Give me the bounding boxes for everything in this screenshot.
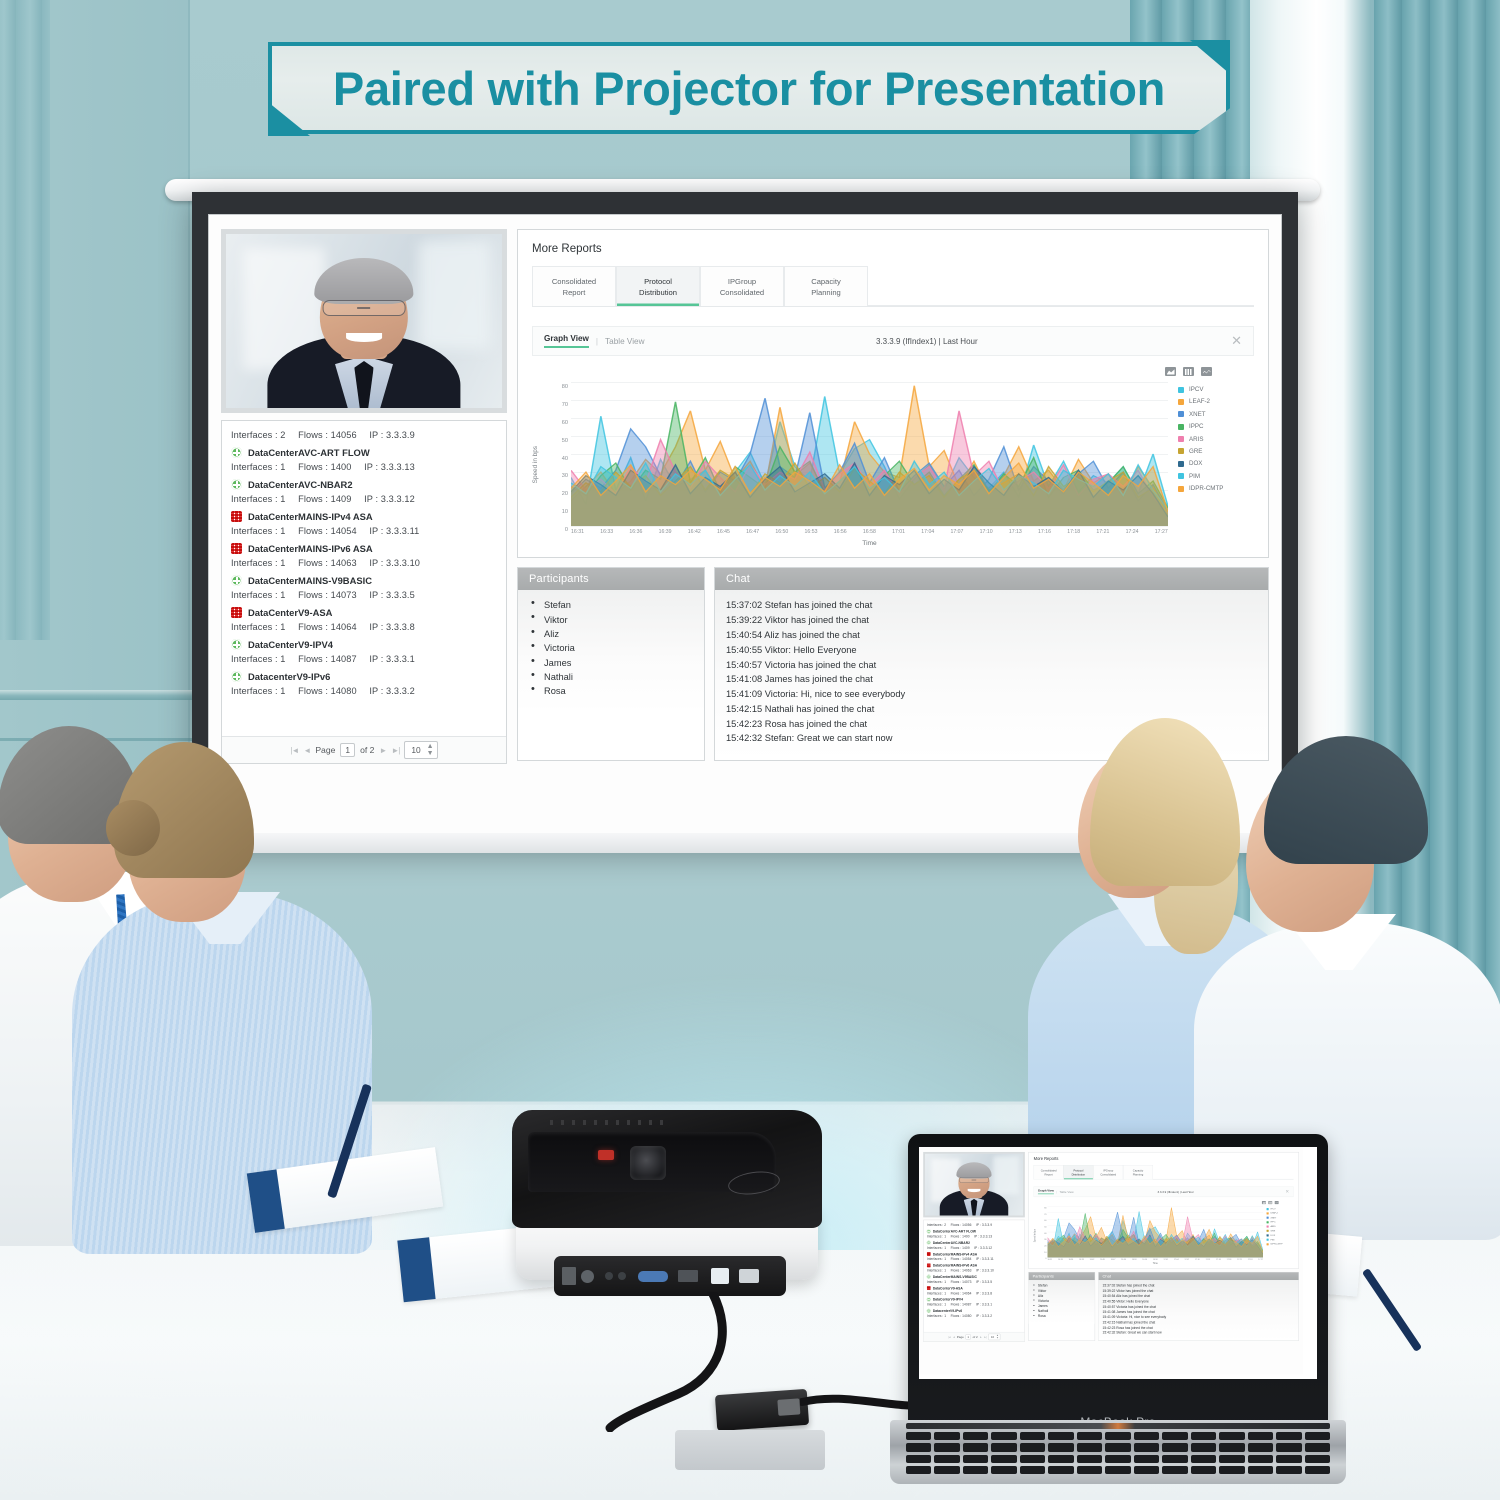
- device-list-panel: Interfaces : 2 Flows : 14056 IP : 3.3.3.…: [221, 420, 507, 764]
- key[interactable]: [1248, 1443, 1273, 1451]
- video-feed[interactable]: [923, 1152, 1025, 1217]
- page-title: More Reports: [532, 243, 1254, 255]
- legend-item[interactable]: ARIS: [1178, 436, 1254, 443]
- key[interactable]: [1305, 1432, 1330, 1440]
- x-tick: 16:31: [1048, 1258, 1053, 1260]
- device-interfaces: Interfaces : 1: [231, 558, 286, 568]
- red-firewall-icon: [927, 1286, 931, 1290]
- x-tick: 17:07: [1185, 1258, 1190, 1260]
- hdmi-port[interactable]: [678, 1270, 698, 1282]
- x-tick: 17:21: [1096, 529, 1109, 535]
- device-ip: IP : 3.3.3.5: [369, 590, 414, 600]
- legend-item[interactable]: PIM: [1267, 1238, 1294, 1240]
- list-item: 15:41:08 James has joined the chat: [726, 672, 1257, 687]
- key[interactable]: [934, 1432, 959, 1440]
- app-root: Interfaces : 2 Flows : 14056 IP : 3.3.3.…: [923, 1152, 1299, 1374]
- green-plus-icon: [927, 1298, 931, 1302]
- bar-chart-icon[interactable]: [1183, 367, 1194, 376]
- key[interactable]: [1077, 1455, 1102, 1463]
- legend-swatch-icon: [1267, 1212, 1269, 1214]
- legend-swatch-icon: [1178, 399, 1184, 405]
- glasses-icon: [959, 1177, 988, 1183]
- list-item: James: [529, 656, 693, 670]
- list-item: Nathali: [529, 670, 693, 684]
- legend-item[interactable]: ARIS: [1267, 1225, 1294, 1227]
- legend-label: GRE: [1270, 1230, 1275, 1232]
- device-ip: IP : 3.3.3.12: [974, 1246, 992, 1250]
- tab-graph-view[interactable]: Graph View: [1038, 1189, 1054, 1194]
- key[interactable]: [1219, 1443, 1244, 1451]
- chart-y-axis: 80706050403020100: [1037, 1206, 1048, 1265]
- device-header-meta: Interfaces : 2 Flows : 14056 IP : 3.3.3.…: [222, 427, 506, 443]
- left-column: Interfaces : 2 Flows : 14056 IP : 3.3.3.…: [221, 229, 507, 764]
- report-context-label: 3.3.3.9 (IfIndex1) | Last Hour: [1158, 1190, 1194, 1193]
- legend-label: PIM: [1189, 473, 1200, 480]
- right-column: More Reports Consolidated Report Protoco…: [517, 229, 1269, 761]
- report-context-label: 3.3.3.9 (IfIndex1) | Last Hour: [876, 337, 978, 346]
- tabs-filler: [868, 266, 1254, 306]
- key[interactable]: [1020, 1443, 1045, 1451]
- page-size-select[interactable]: 10 ▲▼: [988, 1334, 1000, 1340]
- x-tick: 16:36: [629, 529, 642, 535]
- tab-label-line2: Consolidated: [720, 288, 764, 297]
- legend-item[interactable]: IPPC: [1267, 1221, 1294, 1223]
- green-plus-icon: [927, 1241, 931, 1245]
- next-page-icon[interactable]: ►: [979, 1335, 981, 1338]
- device-flows: Flows : 14087: [298, 654, 357, 664]
- legend-swatch-icon: [1267, 1234, 1269, 1236]
- legend-swatch-icon: [1178, 448, 1184, 454]
- list-item: 15:42:32 Stefan: Great we can start now: [1103, 1330, 1295, 1335]
- legend-label: IPPC: [1189, 423, 1203, 430]
- close-icon[interactable]: ✕: [1209, 337, 1242, 345]
- legend-swatch-icon: [1178, 461, 1184, 467]
- key[interactable]: [991, 1443, 1016, 1451]
- legend-item[interactable]: GRE: [1267, 1230, 1294, 1232]
- key[interactable]: [1276, 1443, 1301, 1451]
- device-name: DataCenterMAINS-IPv4 ASA: [248, 511, 373, 522]
- y-tick: 40: [1044, 1232, 1046, 1234]
- tab-graph-view[interactable]: Graph View: [544, 334, 589, 348]
- list-item: 15:40:57 Victoria has joined the chat: [726, 657, 1257, 672]
- first-page-icon[interactable]: |◄: [948, 1335, 951, 1338]
- key[interactable]: [1248, 1432, 1273, 1440]
- device-flows: Flows : 14080: [298, 686, 357, 696]
- page-title: More Reports: [1034, 1157, 1294, 1161]
- list-item[interactable]: DataCenterMAINS-V9BASIC: [222, 571, 506, 587]
- header-ip: IP : 3.3.3.9: [369, 430, 414, 440]
- device-flows: Flows : 14063: [951, 1269, 972, 1273]
- green-plus-icon: [231, 479, 242, 490]
- key[interactable]: [1105, 1432, 1130, 1440]
- legend-item[interactable]: XNET: [1178, 411, 1254, 418]
- area-chart-icon[interactable]: [1262, 1201, 1266, 1204]
- list-item[interactable]: DataCenterAVC-ART FLOW: [222, 443, 506, 459]
- trackpad[interactable]: [675, 1430, 825, 1470]
- y-tick: 10: [562, 509, 568, 515]
- key[interactable]: [1162, 1466, 1187, 1474]
- touch-bar[interactable]: [906, 1423, 1330, 1429]
- tab-table-view[interactable]: Table View: [605, 337, 644, 346]
- device-ip: IP : 3.3.3.8: [369, 622, 414, 632]
- x-tick: 16:58: [1153, 1258, 1158, 1260]
- reports-panel: More Reports Consolidated Report Protoco…: [517, 229, 1269, 558]
- projector-lens: [630, 1146, 666, 1180]
- legend-label: DOX: [1270, 1234, 1275, 1236]
- keyboard-row: [906, 1432, 1330, 1440]
- x-tick: 16:53: [1132, 1258, 1137, 1260]
- tab-label-line1: Capacity: [1133, 1169, 1143, 1172]
- key[interactable]: [1134, 1455, 1159, 1463]
- key[interactable]: [963, 1466, 988, 1474]
- chart-type-toolbar: [1034, 1201, 1279, 1204]
- key[interactable]: [1305, 1443, 1330, 1451]
- key[interactable]: [1134, 1466, 1159, 1474]
- y-tick: 0: [1045, 1258, 1046, 1260]
- legend-item[interactable]: IPCV: [1267, 1208, 1294, 1210]
- chart-x-axis: 16:3116:3316:3616:3916:4216:4516:4716:50…: [1048, 1258, 1263, 1261]
- legend-item[interactable]: PIM: [1178, 473, 1254, 480]
- keyboard[interactable]: [906, 1432, 1330, 1474]
- key[interactable]: [991, 1455, 1016, 1463]
- device-name: DataCenterAVC-ART FLOW: [933, 1229, 976, 1233]
- key[interactable]: [991, 1466, 1016, 1474]
- device-name: DataCenterMAINS-V9BASIC: [933, 1275, 977, 1279]
- y-tick: 50: [1044, 1226, 1046, 1228]
- key[interactable]: [1105, 1443, 1130, 1451]
- legend-item[interactable]: IPPC: [1178, 423, 1254, 430]
- header-interfaces: Interfaces : 2: [231, 430, 286, 440]
- chat-panel: Chat 15:37:02 Stefan has joined the chat…: [1098, 1272, 1299, 1341]
- video-feed[interactable]: [221, 229, 507, 413]
- key[interactable]: [934, 1466, 959, 1474]
- key[interactable]: [1162, 1432, 1187, 1440]
- key[interactable]: [1219, 1455, 1244, 1463]
- device-meta: Interfaces : 1 Flows : 14054 IP : 3.3.3.…: [222, 523, 506, 539]
- header-banner: Paired with Projector for Presentation: [268, 42, 1230, 134]
- key[interactable]: [934, 1443, 959, 1451]
- device-list-scroll[interactable]: Interfaces : 2 Flows : 14056 IP : 3.3.3.…: [222, 421, 506, 736]
- tab-ipgroup-consolidated[interactable]: IPGroup Consolidated: [1093, 1165, 1123, 1179]
- list-item: Aliz: [529, 627, 693, 641]
- device-meta: Interfaces : 1 Flows : 14063 IP : 3.3.3.…: [222, 555, 506, 571]
- y-tick: 50: [562, 438, 568, 444]
- device-meta: Interfaces : 1 Flows : 14073 IP : 3.3.3.…: [222, 587, 506, 603]
- key[interactable]: [1020, 1432, 1045, 1440]
- device-name: DataCenterMAINS-V9BASIC: [248, 575, 372, 586]
- device-list-scroll[interactable]: Interfaces : 2 Flows : 14056 IP : 3.3.3.…: [924, 1220, 1025, 1332]
- list-item[interactable]: DataCenterMAINS-IPv6 ASA: [222, 539, 506, 555]
- device-interfaces: Interfaces : 1: [231, 590, 286, 600]
- device-flows: Flows : 14064: [951, 1291, 972, 1295]
- legend-swatch-icon: [1267, 1239, 1269, 1241]
- legend-swatch-icon: [1178, 436, 1184, 442]
- key[interactable]: [906, 1466, 931, 1474]
- key[interactable]: [1020, 1466, 1045, 1474]
- tab-label-line2: Report: [1045, 1173, 1053, 1176]
- device-name: DataCenterAVC-NBAR2: [933, 1241, 970, 1245]
- key[interactable]: [934, 1455, 959, 1463]
- x-tick: 16:36: [1069, 1258, 1074, 1260]
- x-tick: 17:01: [1163, 1258, 1168, 1260]
- key[interactable]: [963, 1455, 988, 1463]
- vga-port[interactable]: [638, 1271, 668, 1282]
- legend-item[interactable]: IPCV: [1178, 386, 1254, 393]
- usb-port[interactable]: [739, 1269, 759, 1283]
- device-name: DataCenterMAINS-IPv4 ASA: [933, 1252, 977, 1256]
- power-port[interactable]: [562, 1267, 576, 1285]
- keyboard-row: [906, 1443, 1330, 1451]
- x-tick: 16:39: [659, 529, 672, 535]
- view-toolbar: Graph View | Table View 3.3.3.9 (IfIndex…: [1034, 1186, 1294, 1197]
- report-tabs: Consolidated Report Protocol Distributio…: [532, 266, 1254, 307]
- area-chart-icon[interactable]: [1165, 367, 1176, 376]
- x-tick: 17:27: [1155, 529, 1168, 535]
- tab-capacity-planning[interactable]: Capacity Planning: [784, 266, 868, 306]
- tab-consolidated-report[interactable]: Consolidated Report: [532, 266, 616, 306]
- key[interactable]: [1276, 1466, 1301, 1474]
- device-ip: IP : 3.3.3.13: [364, 462, 415, 472]
- green-plus-icon: [231, 447, 242, 458]
- line-chart-icon[interactable]: [1275, 1201, 1279, 1204]
- tab-ipgroup-consolidated[interactable]: IPGroup Consolidated: [700, 266, 784, 306]
- device-ip: IP : 3.3.3.11: [976, 1257, 994, 1261]
- participants-title: Participants: [518, 568, 704, 590]
- key[interactable]: [906, 1432, 931, 1440]
- legend-label: IDPR-CMTP: [1270, 1243, 1282, 1245]
- key[interactable]: [1219, 1466, 1244, 1474]
- key[interactable]: [1305, 1455, 1330, 1463]
- y-tick: 30: [562, 473, 568, 479]
- header-interfaces: Interfaces : 2: [927, 1223, 946, 1227]
- audio-out-port[interactable]: [618, 1272, 626, 1280]
- x-tick: 17:24: [1248, 1258, 1253, 1260]
- device-meta: Interfaces : 1 Flows : 14087 IP : 3.3.3.…: [222, 651, 506, 667]
- participants-title: Participants: [1029, 1272, 1095, 1280]
- device-interfaces: Interfaces : 1: [231, 494, 286, 504]
- tab-label-line1: Consolidated: [1041, 1169, 1057, 1172]
- legend-item[interactable]: LEAF-2: [1178, 398, 1254, 405]
- x-tick: 17:16: [1216, 1258, 1221, 1260]
- ethernet-port[interactable]: [711, 1268, 729, 1284]
- key[interactable]: [906, 1443, 931, 1451]
- key[interactable]: [963, 1432, 988, 1440]
- glasses-icon: [323, 300, 406, 316]
- chart-legend: IPCV LEAF-2 XNET IPPC ARIS GRE DOX PIM I…: [1168, 382, 1254, 547]
- bar-chart-icon[interactable]: [1268, 1201, 1272, 1204]
- device-interfaces: Interfaces : 1: [927, 1269, 946, 1273]
- y-tick: 10: [1044, 1251, 1046, 1253]
- y-tick: 0: [565, 527, 568, 533]
- key[interactable]: [1276, 1432, 1301, 1440]
- list-item[interactable]: DatacenterV9-IPv6: [222, 667, 506, 683]
- list-item[interactable]: DataCenterMAINS-IPv4 ASA: [222, 507, 506, 523]
- key[interactable]: [1248, 1466, 1273, 1474]
- list-item: Viktor: [529, 612, 693, 626]
- key[interactable]: [1162, 1455, 1187, 1463]
- key[interactable]: [1191, 1432, 1216, 1440]
- legend-label: ARIS: [1270, 1225, 1275, 1227]
- legend-item[interactable]: IDPR-CMTP: [1178, 485, 1254, 492]
- legend-item[interactable]: GRE: [1178, 448, 1254, 455]
- key[interactable]: [963, 1443, 988, 1451]
- legend-label: LEAF-2: [1270, 1212, 1277, 1214]
- key[interactable]: [906, 1455, 931, 1463]
- x-tick: 16:33: [600, 529, 613, 535]
- key[interactable]: [991, 1432, 1016, 1440]
- participants-list: StefanViktorAlizVictoriaJamesNathaliRosa: [1029, 1280, 1095, 1324]
- key[interactable]: [1219, 1432, 1244, 1440]
- audio-in-port[interactable]: [605, 1272, 613, 1280]
- key[interactable]: [1191, 1443, 1216, 1451]
- key[interactable]: [1048, 1432, 1073, 1440]
- device-name: DataCenterAVC-NBAR2: [248, 479, 353, 490]
- y-tick: 20: [1044, 1245, 1046, 1247]
- keyboard-row: [906, 1455, 1330, 1463]
- tab-protocol-distribution[interactable]: Protocol Distribution: [1063, 1165, 1093, 1179]
- x-tick: 16:45: [1100, 1258, 1105, 1260]
- tab-label-line1: Protocol: [1073, 1169, 1083, 1172]
- key[interactable]: [1134, 1432, 1159, 1440]
- legend-item[interactable]: DOX: [1267, 1234, 1294, 1236]
- key[interactable]: [1048, 1466, 1073, 1474]
- pagination-bar[interactable]: |◄ ◄ Page 1 of 2 ► ►| 10 ▲▼: [924, 1332, 1025, 1342]
- device-meta: Interfaces : 1 Flows : 1409 IP : 3.3.3.1…: [222, 491, 506, 507]
- key[interactable]: [1134, 1443, 1159, 1451]
- y-tick: 60: [562, 420, 568, 426]
- list-item[interactable]: DataCenterV9-ASA: [222, 603, 506, 619]
- list-item: 15:40:54 Aliz has joined the chat: [726, 628, 1257, 643]
- key[interactable]: [1105, 1466, 1130, 1474]
- x-tick: 17:13: [1206, 1258, 1211, 1260]
- legend-item[interactable]: LEAF-2: [1267, 1212, 1294, 1214]
- key[interactable]: [1248, 1455, 1273, 1463]
- chart-legend: IPCV LEAF-2 XNET IPPC ARIS GRE DOX PIM I…: [1263, 1206, 1294, 1265]
- x-tick: 16:47: [1111, 1258, 1116, 1260]
- report-tabs: Consolidated Report Protocol Distributio…: [1034, 1165, 1294, 1180]
- laptop-screen[interactable]: Interfaces : 2 Flows : 14056 IP : 3.3.3.…: [919, 1147, 1317, 1379]
- legend-item[interactable]: XNET: [1267, 1217, 1294, 1219]
- prev-page-icon[interactable]: ◄: [953, 1335, 955, 1338]
- tab-protocol-distribution[interactable]: Protocol Distribution: [616, 266, 700, 306]
- gridline: [571, 526, 1168, 527]
- laptop-mirrored-ui: Interfaces : 2 Flows : 14056 IP : 3.3.3.…: [919, 1147, 1303, 1374]
- attendee-hair: [1090, 718, 1240, 886]
- key[interactable]: [1191, 1455, 1216, 1463]
- y-tick: 60: [1044, 1220, 1046, 1222]
- list-item: 15:40:55 Viktor: Hello Everyone: [726, 642, 1257, 657]
- legend-swatch-icon: [1267, 1225, 1269, 1227]
- chart-y-axis: 80706050403020100: [541, 382, 571, 547]
- last-page-icon[interactable]: ►|: [984, 1335, 987, 1338]
- key[interactable]: [1305, 1466, 1330, 1474]
- device-flows: Flows : 1400: [298, 462, 351, 472]
- legend-swatch-icon: [1267, 1243, 1269, 1245]
- device-flows: Flows : 14054: [951, 1257, 972, 1261]
- device-interfaces: Interfaces : 1: [231, 654, 286, 664]
- line-chart-icon[interactable]: [1201, 367, 1212, 376]
- key[interactable]: [1077, 1443, 1102, 1451]
- tab-capacity-planning[interactable]: Capacity Planning: [1123, 1165, 1153, 1179]
- page-size-select[interactable]: 10 ▲▼: [404, 741, 437, 759]
- attendee-hair: [1264, 736, 1428, 864]
- device-interfaces: Interfaces : 1: [927, 1291, 946, 1295]
- next-page-icon[interactable]: ►: [379, 746, 386, 755]
- key[interactable]: [1077, 1466, 1102, 1474]
- legend-item[interactable]: DOX: [1178, 460, 1254, 467]
- legend-label: IPCV: [1189, 386, 1203, 393]
- device-name: DataCenterAVC-ART FLOW: [248, 447, 370, 458]
- dc-port[interactable]: [581, 1270, 594, 1283]
- list-item: Rosa: [529, 684, 693, 698]
- device-ip: IP : 3.3.3.2: [976, 1314, 992, 1318]
- legend-swatch-icon: [1267, 1217, 1269, 1219]
- list-item[interactable]: DataCenterV9-IPV4: [222, 635, 506, 651]
- key[interactable]: [1276, 1455, 1301, 1463]
- key[interactable]: [1191, 1466, 1216, 1474]
- red-firewall-icon: [231, 607, 242, 618]
- device-name: DatacenterV9-IPv6: [933, 1309, 962, 1313]
- key[interactable]: [1020, 1455, 1045, 1463]
- chart-y-axis-label: Speed in bps: [1034, 1229, 1036, 1242]
- tab-consolidated-report[interactable]: Consolidated Report: [1034, 1165, 1064, 1179]
- tab-label-line1: IPGroup: [1103, 1169, 1113, 1172]
- list-item: 15:41:09 Victoria: Hi, nice to see every…: [726, 687, 1257, 702]
- list-item: Rosa: [1033, 1314, 1091, 1319]
- key[interactable]: [1077, 1432, 1102, 1440]
- last-page-icon[interactable]: ►|: [391, 746, 399, 755]
- green-plus-icon: [927, 1309, 931, 1313]
- list-item[interactable]: DataCenterAVC-NBAR2: [222, 475, 506, 491]
- x-tick: 16:53: [805, 529, 818, 535]
- toolbar-divider: |: [596, 337, 598, 346]
- key[interactable]: [1048, 1455, 1073, 1463]
- legend-swatch-icon: [1178, 486, 1184, 492]
- key[interactable]: [1048, 1443, 1073, 1451]
- legend-swatch-icon: [1178, 387, 1184, 393]
- chat-title: Chat: [715, 568, 1268, 590]
- keyboard-row: [906, 1466, 1330, 1474]
- legend-label: LEAF-2: [1189, 398, 1210, 405]
- close-icon[interactable]: ✕: [1278, 1190, 1290, 1193]
- tab-table-view[interactable]: Table View: [1060, 1190, 1074, 1193]
- chart-x-axis-label: Time: [571, 540, 1168, 547]
- x-tick: 17:13: [1009, 529, 1022, 535]
- tab-label-line2: Report: [563, 288, 586, 297]
- device-ip: IP : 3.3.3.11: [369, 526, 419, 536]
- key[interactable]: [1105, 1455, 1130, 1463]
- presenter-smile: [346, 333, 382, 342]
- x-tick: 16:33: [1058, 1258, 1063, 1260]
- key[interactable]: [1162, 1443, 1187, 1451]
- device-name: DataCenterMAINS-IPv6 ASA: [248, 543, 373, 554]
- legend-swatch-icon: [1267, 1221, 1269, 1223]
- protocol-distribution-chart: Speed in bps 80706050403020100 16:3116:3…: [532, 382, 1254, 547]
- laptop-lid: Interfaces : 2 Flows : 14056 IP : 3.3.3.…: [908, 1134, 1328, 1434]
- x-tick: 16:31: [571, 529, 584, 535]
- x-tick: 16:39: [1079, 1258, 1084, 1260]
- presenter-smile: [968, 1189, 981, 1192]
- x-tick: 16:50: [1121, 1258, 1126, 1260]
- device-meta: Interfaces : 1 Flows : 14080 IP : 3.3.3.…: [924, 1313, 1025, 1319]
- device-ip: IP : 3.3.3.2: [369, 686, 414, 696]
- attendee-hair-bun: [106, 800, 160, 856]
- tab-label-line1: Capacity: [811, 277, 841, 286]
- legend-item[interactable]: IDPR-CMTP: [1267, 1243, 1294, 1245]
- header-flows: Flows : 14056: [951, 1223, 972, 1227]
- x-tick: 17:16: [1038, 529, 1051, 535]
- page-number-input[interactable]: 1: [966, 1334, 971, 1339]
